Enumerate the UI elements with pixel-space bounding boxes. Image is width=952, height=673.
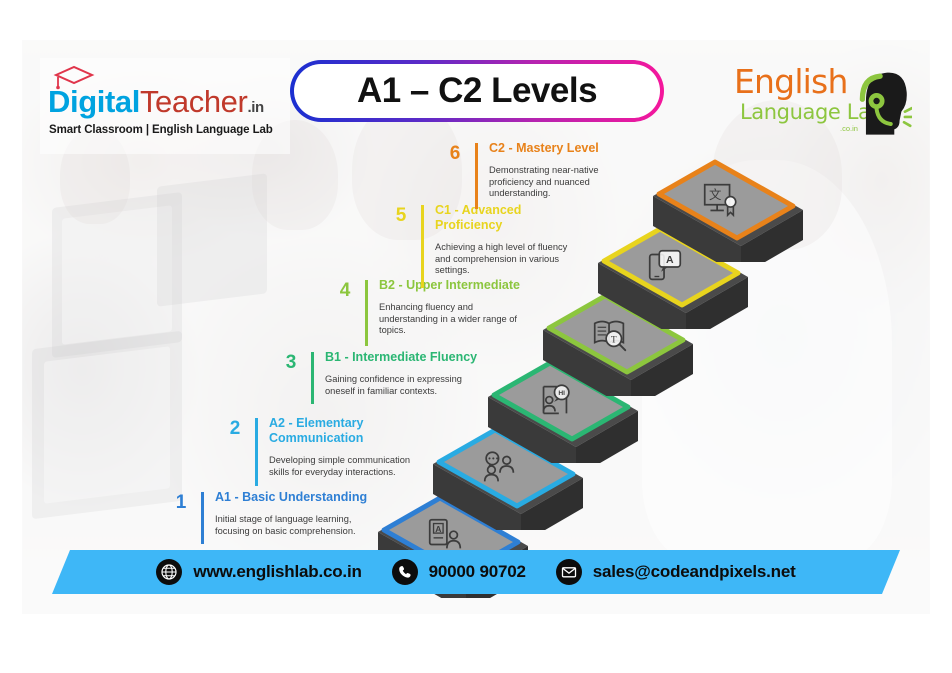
level-2-title: A2 - Elementary Communication bbox=[269, 416, 458, 446]
footer-phone-text: 90000 90702 bbox=[429, 562, 526, 582]
poster-canvas: DigitalTeacher.in Smart Classroom | Engl… bbox=[22, 40, 930, 614]
level-1-body: A1 - Basic Understanding Initial stage o… bbox=[204, 490, 404, 537]
level-1-description: Initial stage of language learning, focu… bbox=[215, 514, 404, 537]
level-2-number: 2 bbox=[222, 418, 248, 440]
level-1-number: 1 bbox=[168, 492, 194, 514]
globe-icon bbox=[156, 559, 182, 585]
level-3-description: Gaining confidence in expressing oneself… bbox=[325, 374, 514, 397]
level-3-title: B1 - Intermediate Fluency bbox=[325, 350, 514, 365]
footer-website[interactable]: www.englishlab.co.in bbox=[156, 559, 361, 585]
level-5-description: Achieving a high level of fluency and co… bbox=[435, 242, 624, 277]
footer: www.englishlab.co.in 90000 90702 sa bbox=[22, 550, 930, 594]
level-1-title: A1 - Basic Understanding bbox=[215, 490, 404, 505]
level-3-number: 3 bbox=[278, 352, 304, 374]
level-4-number: 4 bbox=[332, 280, 358, 302]
level-4-description: Enhancing fluency and understanding in a… bbox=[379, 302, 568, 337]
svg-text:文: 文 bbox=[709, 187, 721, 202]
footer-phone[interactable]: 90000 90702 bbox=[392, 559, 526, 585]
footer-contact-band: www.englishlab.co.in 90000 90702 sa bbox=[52, 550, 900, 594]
level-4-title: B2 - Upper Intermediate bbox=[379, 278, 568, 293]
level-6-description: Demonstrating near-native proficiency an… bbox=[489, 165, 678, 200]
level-6-number: 6 bbox=[442, 143, 468, 165]
footer-website-text: www.englishlab.co.in bbox=[193, 562, 361, 582]
phone-icon bbox=[392, 559, 418, 585]
level-6-body: C2 - Mastery Level Demonstrating near-na… bbox=[478, 141, 678, 200]
footer-email[interactable]: sales@codeandpixels.net bbox=[556, 559, 796, 585]
svg-text:T: T bbox=[611, 335, 617, 346]
level-5-body: C1 - Advanced Proficiency Achieving a hi… bbox=[424, 203, 624, 277]
translate-certificate-icon: 文 bbox=[697, 176, 743, 222]
level-6-title: C2 - Mastery Level bbox=[489, 141, 678, 156]
level-2-description: Developing simple communication skills f… bbox=[269, 455, 458, 478]
level-2-body: A2 - Elementary Communication Developing… bbox=[258, 416, 458, 478]
level-5-number: 5 bbox=[388, 205, 414, 227]
footer-email-text: sales@codeandpixels.net bbox=[593, 562, 796, 582]
envelope-icon bbox=[556, 559, 582, 585]
level-4-body: B2 - Upper Intermediate Enhancing fluenc… bbox=[368, 278, 568, 337]
level-3-body: B1 - Intermediate Fluency Gaining confid… bbox=[314, 350, 514, 397]
level-5-title: C1 - Advanced Proficiency bbox=[435, 203, 624, 233]
